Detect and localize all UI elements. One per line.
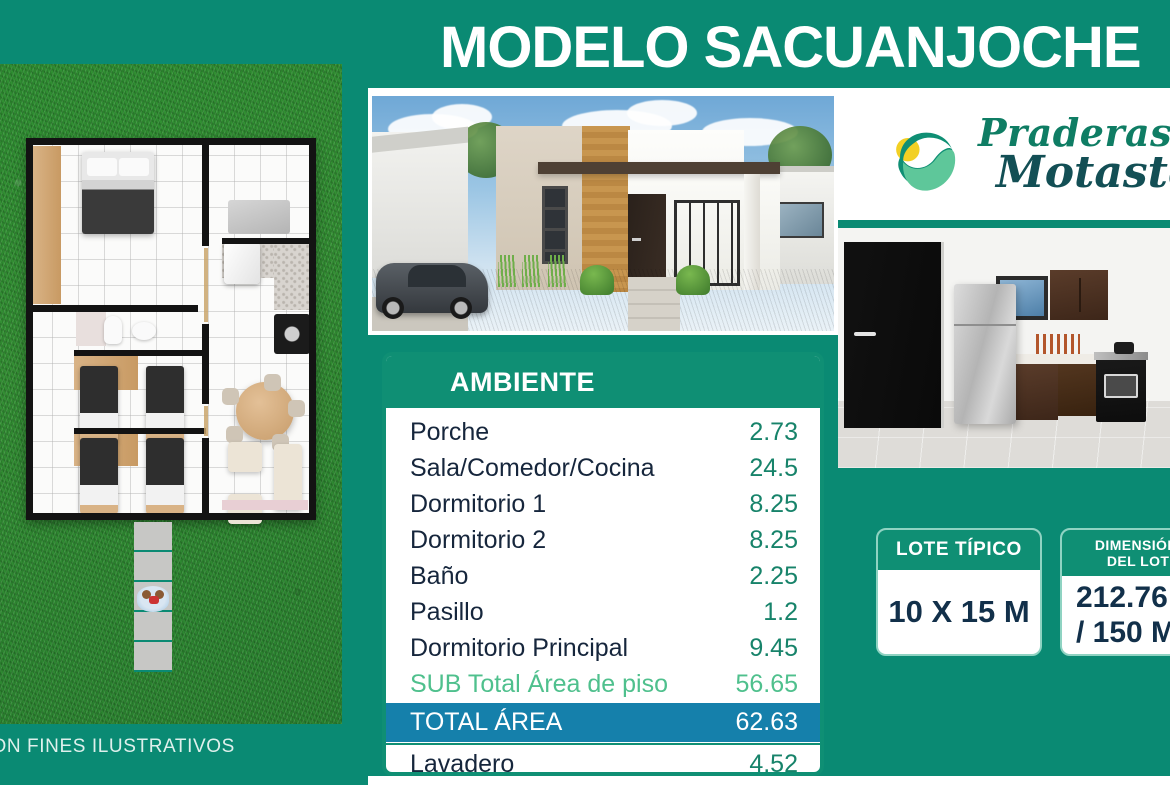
brand-line-2: Motastep	[996, 147, 1170, 198]
table-row: Dormitorio 2 8.25	[386, 522, 820, 558]
door-icon	[204, 406, 208, 436]
pillow-icon	[87, 158, 117, 176]
brand-wordmark: Praderas d Motastep	[978, 110, 1170, 198]
shrub-shape	[676, 265, 710, 295]
oven-door	[1104, 374, 1138, 398]
table-header-label: AMBIENTE	[450, 367, 595, 398]
countertop-items	[1036, 334, 1080, 354]
row-value: 2.25	[749, 562, 798, 591]
dimension-title-line1: DIMENSIÓN T	[1095, 537, 1170, 553]
plant-shape	[498, 255, 516, 287]
lote-tipico-card: LOTE TÍPICO 10 X 15 M	[876, 528, 1042, 656]
row-label: Baño	[410, 562, 468, 591]
cloud-shape	[627, 100, 697, 126]
bottom-divider	[368, 776, 1170, 785]
kitchen-counter	[274, 244, 310, 310]
row-label: TOTAL ÁREA	[410, 708, 562, 737]
illustrative-disclaimer: S CON FINES ILUSTRATIVOS	[0, 736, 368, 758]
plant-shape	[522, 255, 540, 287]
row-label: SUB Total Área de piso	[410, 670, 668, 699]
table-row: Baño 2.25	[386, 558, 820, 594]
lower-cabinet	[1016, 364, 1058, 420]
people-figures-detail	[149, 596, 159, 604]
table-row-total: TOTAL ÁREA 62.63	[386, 703, 820, 742]
kitchen-photo	[838, 228, 1170, 468]
dimension-lote-card: DIMENSIÓN T DEL LOTE 212.76 V / 150 M	[1060, 528, 1170, 656]
brand-logo-panel: Praderas d Motastep	[838, 92, 1170, 220]
exterior-render-frame	[368, 92, 838, 335]
upper-cabinet	[1050, 270, 1108, 320]
row-label: Lavadero	[410, 750, 514, 777]
row-value: 62.63	[735, 708, 798, 737]
lower-cabinet	[1058, 364, 1096, 416]
interior-wall	[202, 324, 209, 404]
row-value: 56.65	[735, 670, 798, 699]
door-handle-icon	[854, 332, 876, 336]
sink-icon	[132, 322, 156, 340]
facade-tall-window	[542, 186, 568, 264]
cooking-pot-icon	[1114, 342, 1134, 354]
row-value: 8.25	[749, 526, 798, 555]
row-label: Pasillo	[410, 598, 484, 627]
kitchen-countertop	[1016, 354, 1096, 364]
plant-shape	[548, 255, 566, 287]
car-wheel	[382, 297, 404, 319]
row-value: 2.73	[749, 418, 798, 447]
lote-tipico-title: LOTE TÍPICO	[878, 530, 1040, 570]
chair-icon	[222, 388, 239, 405]
interior-wall	[202, 438, 209, 520]
row-value: 24.5	[749, 454, 798, 483]
toilet-icon	[104, 316, 122, 344]
interior-wall	[74, 428, 206, 434]
interior-wall	[74, 350, 206, 356]
exterior-wall	[26, 513, 316, 520]
table-row: Dormitorio 1 8.25	[386, 486, 820, 522]
house-footprint	[26, 138, 316, 520]
entry-walkway	[628, 277, 680, 331]
table-body: Porche 2.73 Sala/Comedor/Cocina 24.5 Dor…	[386, 408, 820, 776]
table-row: Porche 2.73	[386, 414, 820, 450]
table-row: Pasillo 1.2	[386, 594, 820, 630]
chair-icon	[288, 400, 305, 417]
refrigerator-icon	[224, 242, 260, 284]
armchair-icon	[228, 442, 262, 472]
dimension-value-line1: 212.76 V	[1076, 580, 1170, 615]
refrigerator-icon	[954, 284, 1016, 424]
neighbor-house-left	[372, 132, 468, 278]
dimension-title-line2: DEL LOTE	[1095, 553, 1170, 569]
row-value: 4.52	[749, 750, 798, 777]
chair-icon	[226, 426, 243, 443]
row-label: Dormitorio 2	[410, 526, 546, 555]
floor-plan-panel: S CON FINES ILUSTRATIVOS	[0, 0, 368, 785]
car-wheel	[450, 297, 472, 319]
exterior-wall	[26, 138, 316, 145]
bed-single-icon	[146, 438, 184, 514]
dimension-lote-value: 212.76 V / 150 M	[1062, 576, 1170, 654]
interior-wall	[202, 138, 209, 246]
ambiente-table: AMBIENTE Porche 2.73 Sala/Comedor/Cocina…	[382, 352, 824, 776]
floor-plan-image	[0, 64, 342, 724]
wood-floor-master	[33, 146, 61, 304]
door-icon	[204, 248, 208, 322]
row-value: 9.45	[749, 634, 798, 663]
kitchen-sink-icon	[228, 200, 290, 234]
pillow-icon	[119, 158, 149, 176]
row-label: Porche	[410, 418, 489, 447]
interior-wall	[222, 238, 316, 244]
shower-icon	[76, 308, 106, 346]
row-label: Sala/Comedor/Cocina	[410, 454, 655, 483]
rug-shape	[222, 500, 308, 510]
dimension-value-line2: / 150 M	[1076, 615, 1170, 650]
exterior-wall	[26, 138, 33, 520]
praderas-leaf-logo-icon	[886, 120, 964, 198]
stove-icon	[274, 314, 310, 354]
row-value: 1.2	[763, 598, 798, 627]
table-row: Dormitorio Principal 9.45	[386, 630, 820, 666]
exterior-wall	[309, 138, 316, 520]
table-row-lavadero: Lavadero 4.52	[386, 743, 820, 776]
dining-table-icon	[236, 382, 294, 440]
exterior-render-image	[372, 96, 834, 331]
row-label: Dormitorio Principal	[410, 634, 628, 663]
dimension-lote-title: DIMENSIÓN T DEL LOTE	[1062, 530, 1170, 576]
shrub-shape	[580, 265, 614, 295]
chair-icon	[264, 374, 281, 391]
bed-single-icon	[80, 438, 118, 514]
table-row: Sala/Comedor/Cocina 24.5	[386, 450, 820, 486]
table-header-row: AMBIENTE	[386, 356, 820, 408]
door-handle-icon	[632, 238, 641, 241]
car-window	[408, 265, 466, 287]
porch-roof-slab	[538, 162, 780, 174]
page-title: MODELO SACUANJOCHE	[440, 14, 1141, 81]
table-row-subtotal: SUB Total Área de piso 56.65	[386, 666, 820, 702]
lote-tipico-value: 10 X 15 M	[878, 570, 1040, 654]
interior-wall	[26, 305, 198, 312]
row-value: 8.25	[749, 490, 798, 519]
bed-master-icon	[82, 152, 154, 234]
row-label: Dormitorio 1	[410, 490, 546, 519]
